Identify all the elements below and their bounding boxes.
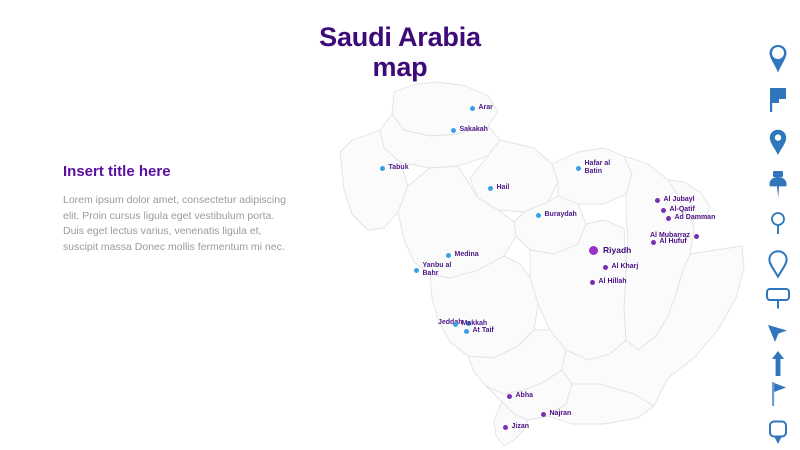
city-label: Jizan <box>512 423 530 432</box>
city-label: Hafar al Batin <box>585 160 611 176</box>
city-marker[interactable]: Al Kharj <box>603 263 638 272</box>
city-dot-icon <box>380 166 385 171</box>
capital-label: Riyadh <box>603 246 631 255</box>
city-marker[interactable]: Medina <box>446 251 479 260</box>
city-label: Buraydah <box>545 211 577 220</box>
city-label: Ad Damman <box>675 214 716 223</box>
city-marker[interactable]: Arar <box>470 104 493 113</box>
city-marker[interactable]: At Taif <box>464 327 494 336</box>
city-dot-icon <box>414 268 419 273</box>
map-svg <box>338 78 746 450</box>
city-marker[interactable]: Yanbu al Bahr <box>414 262 451 278</box>
city-marker[interactable]: Tabuk <box>380 164 409 173</box>
balloon-pin-icon[interactable] <box>756 212 800 236</box>
city-marker[interactable]: Buraydah <box>536 211 577 220</box>
small-flag-icon[interactable] <box>756 380 800 408</box>
city-dot-icon <box>603 265 608 270</box>
city-label: Abha <box>516 392 534 401</box>
city-label: Tabuk <box>389 164 409 173</box>
city-label: Medina <box>455 251 479 260</box>
pin-outline-icon[interactable] <box>756 250 800 278</box>
map-marker-icon-rail <box>756 44 800 402</box>
city-label: Arar <box>479 104 493 113</box>
city-dot-icon <box>446 253 451 258</box>
city-marker[interactable]: Hafar al Batin <box>576 160 610 176</box>
city-dot-icon <box>503 425 508 430</box>
city-marker[interactable]: Ad Damman <box>666 214 715 223</box>
saudi-arabia-map[interactable]: Arar Sakakah Tabuk Hail Hafar al Batin B… <box>338 78 746 450</box>
capital-dot-icon <box>589 246 598 255</box>
city-marker[interactable]: Abha <box>507 392 533 401</box>
city-dot-icon <box>666 216 671 221</box>
city-label: Al Hillah <box>599 278 627 287</box>
arrow-up-pin-icon[interactable] <box>756 350 800 378</box>
map-regions <box>340 82 744 446</box>
city-label: Sakakah <box>460 126 488 135</box>
city-marker[interactable]: Najran <box>541 410 571 419</box>
city-marker[interactable]: Al Hillah <box>590 278 627 287</box>
city-dot-icon <box>651 240 656 245</box>
capital-marker[interactable]: Riyadh <box>589 246 631 255</box>
city-label: Al Jubayl <box>664 196 695 205</box>
city-label: Al Hufuf <box>660 238 687 247</box>
map-pin-outline-icon[interactable] <box>756 44 800 74</box>
city-dot-icon <box>488 186 493 191</box>
city-dot-icon <box>453 322 458 327</box>
city-label: Al Kharj <box>612 263 639 272</box>
city-label: Hail <box>497 184 510 193</box>
page-title: Saudi Arabia map <box>250 22 550 82</box>
flag-icon[interactable] <box>756 86 800 114</box>
left-text-panel: Insert title here Lorem ipsum dolor amet… <box>63 163 295 255</box>
location-pin-icon[interactable] <box>756 129 800 156</box>
city-label: At Taif <box>473 327 494 336</box>
city-marker[interactable]: Sakakah <box>451 126 488 135</box>
city-marker[interactable]: Jizan <box>503 423 529 432</box>
city-dot-icon <box>507 394 512 399</box>
city-marker[interactable]: Al Hufuf <box>651 238 687 247</box>
city-dot-icon <box>464 329 469 334</box>
city-dot-icon <box>661 208 666 213</box>
city-dot-icon <box>694 234 699 239</box>
city-dot-icon <box>536 213 541 218</box>
city-dot-icon <box>590 280 595 285</box>
pushpin-icon[interactable] <box>756 170 800 199</box>
slide-canvas: Saudi Arabia map Insert title here Lorem… <box>0 0 800 450</box>
left-panel-heading: Insert title here <box>63 163 295 181</box>
city-dot-icon <box>451 128 456 133</box>
cursor-arrow-icon[interactable] <box>756 324 800 344</box>
left-panel-body: Lorem ipsum dolor amet, consectetur adip… <box>63 193 295 255</box>
city-label: Yanbu al Bahr <box>423 262 452 278</box>
city-marker[interactable]: Al Jubayl <box>655 196 695 205</box>
city-dot-icon <box>470 106 475 111</box>
city-marker[interactable]: Hail <box>488 184 509 193</box>
city-label: Najran <box>550 410 572 419</box>
label-callout-pin-icon[interactable] <box>756 287 800 311</box>
city-dot-icon <box>655 198 660 203</box>
rounded-square-pin-icon[interactable] <box>756 420 800 446</box>
city-dot-icon <box>541 412 546 417</box>
city-dot-icon <box>576 166 581 171</box>
